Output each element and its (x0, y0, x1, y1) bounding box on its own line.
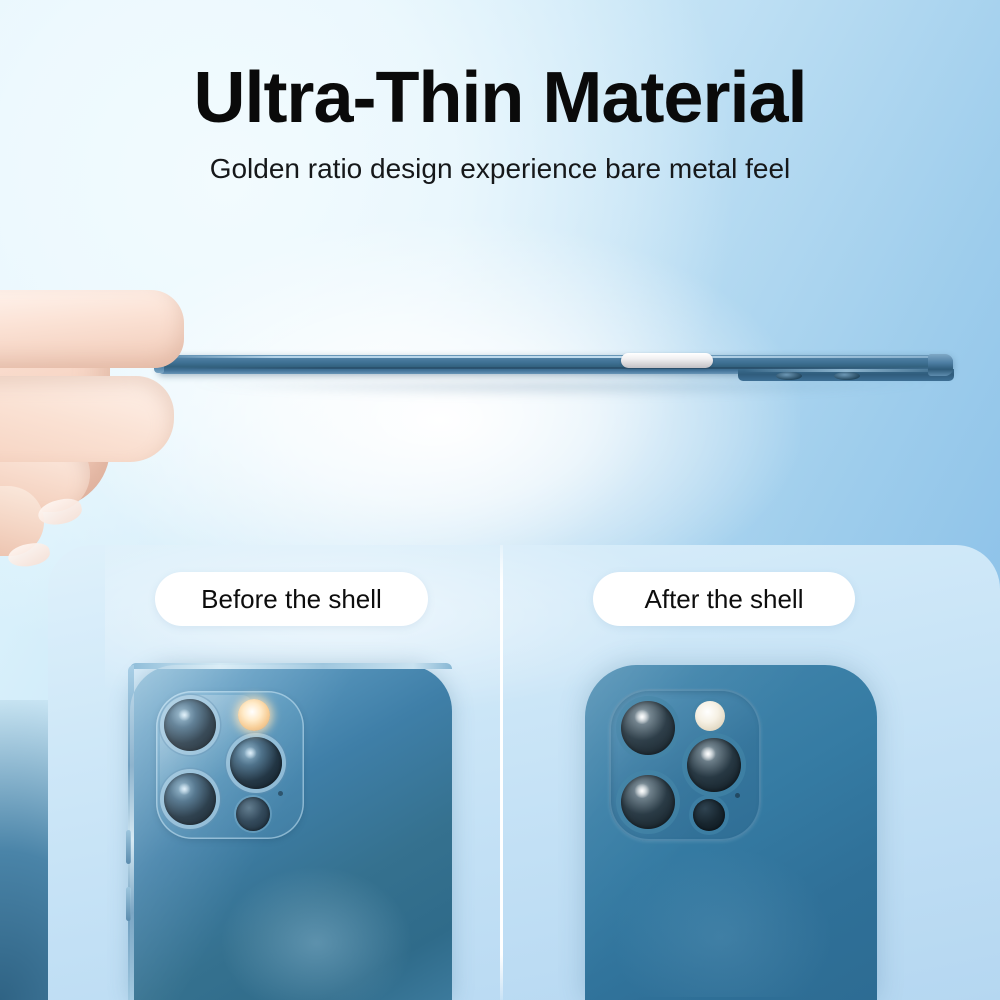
page-title: Ultra-Thin Material (0, 62, 1000, 134)
hand-index-finger (0, 290, 184, 368)
phone-top-rail (130, 663, 452, 669)
comparison-card: Before the shell After the shell (48, 545, 1000, 1000)
case-soft-shading (614, 849, 830, 996)
phone-edge-highlight (166, 356, 945, 358)
flash-icon (695, 701, 725, 731)
label-before-the-shell: Before the shell (155, 572, 428, 626)
label-after-the-shell: After the shell (593, 572, 855, 626)
volume-down-button-icon (126, 887, 131, 921)
volume-up-button-icon (126, 830, 131, 864)
hand-pinch-icon (0, 268, 230, 538)
lidar-icon (693, 799, 725, 831)
camera-bump-lens-left (776, 372, 802, 380)
product-feature-banner: Ultra-Thin Material Golden ratio design … (0, 0, 1000, 1000)
camera-plate (156, 691, 304, 839)
camera-plate-cutout (609, 689, 761, 841)
page-subtitle: Golden ratio design experience bare meta… (0, 152, 1000, 186)
phone-back-cased-icon (585, 665, 877, 1000)
camera-bump-lens-right (834, 372, 860, 380)
phone-side-profile-icon (158, 350, 953, 378)
power-button-icon (621, 353, 713, 368)
lidar-icon (236, 797, 270, 831)
telephoto-lens-icon (230, 737, 282, 789)
phone-gloss-blob (220, 866, 413, 1000)
ultrawide-lens-icon (621, 775, 675, 829)
wide-lens-icon (621, 701, 675, 755)
telephoto-lens-icon (687, 738, 741, 792)
microphone-icon (278, 791, 283, 796)
wide-lens-icon (164, 699, 216, 751)
hand-thumb (0, 376, 174, 462)
phone-back-bare-icon (130, 665, 452, 1000)
vertical-divider (500, 545, 503, 1000)
flash-icon (238, 699, 270, 731)
phone-edge-shadow (190, 382, 930, 398)
ultrawide-lens-icon (164, 773, 216, 825)
microphone-icon (735, 793, 740, 798)
phone-edge-right-tip (928, 354, 953, 376)
hero-illustration (0, 250, 1000, 550)
